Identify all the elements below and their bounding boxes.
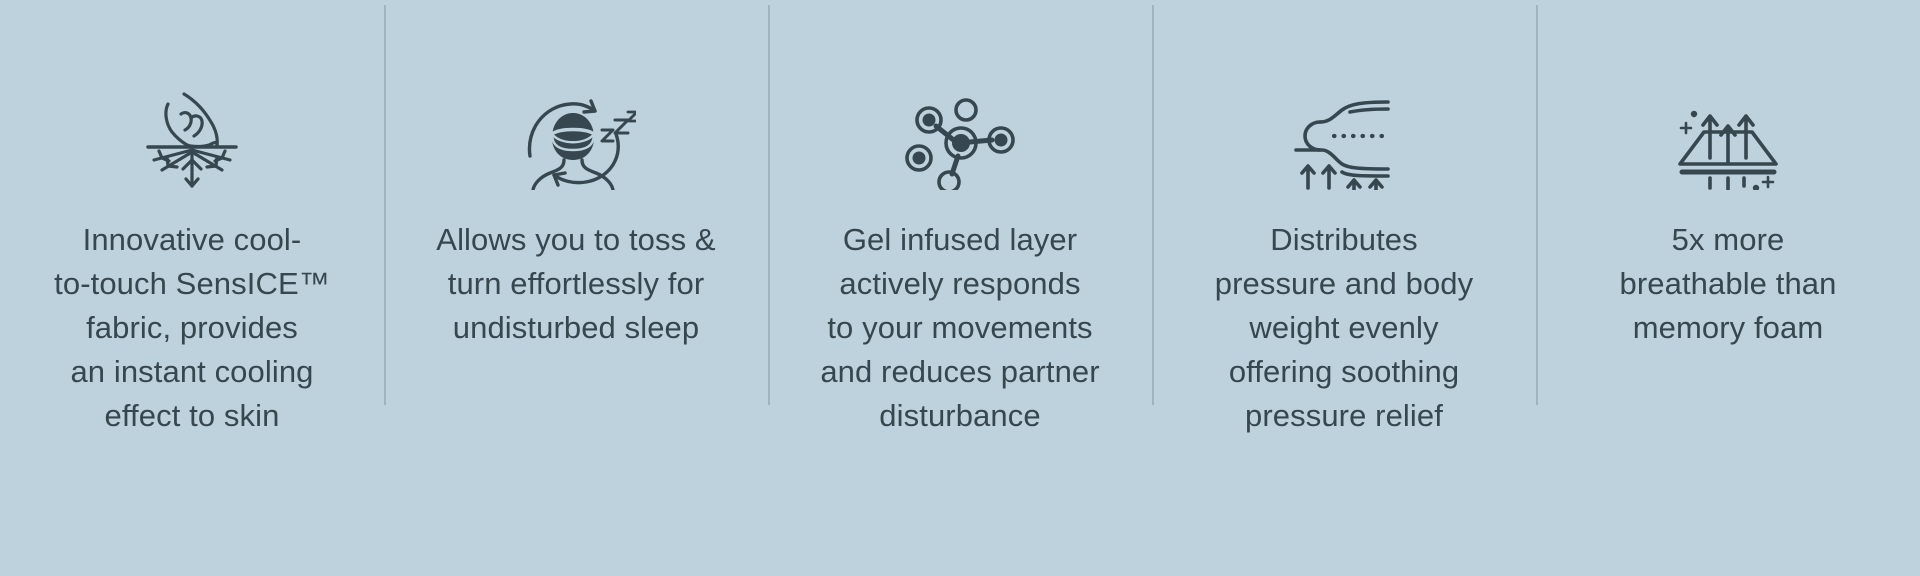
gel-molecule-icon <box>900 90 1020 190</box>
feature-text: Innovative cool- to-touch SensICE™ fabri… <box>54 218 330 438</box>
feature-text: 5x more breathable than memory foam <box>1620 218 1837 350</box>
feature-item-cooling-fabric: Innovative cool- to-touch SensICE™ fabri… <box>0 0 384 576</box>
body-pressure-distribution-icon <box>1284 90 1404 190</box>
feature-item-pressure-relief: Distributes pressure and body weight eve… <box>1152 0 1536 576</box>
breathable-airflow-icon <box>1668 90 1788 190</box>
feature-highlights-bar: Innovative cool- to-touch SensICE™ fabri… <box>0 0 1920 576</box>
feature-text: Allows you to toss & turn effortlessly f… <box>436 218 715 350</box>
feature-item-gel-layer: Gel infused layer actively responds to y… <box>768 0 1152 576</box>
feature-item-breathability: 5x more breathable than memory foam <box>1536 0 1920 576</box>
feature-text: Gel infused layer actively responds to y… <box>820 218 1099 438</box>
sleeping-person-rotating-icon <box>516 90 636 190</box>
feature-text: Distributes pressure and body weight eve… <box>1215 218 1473 438</box>
hand-touching-snowflake-icon <box>132 90 252 190</box>
feature-item-toss-turn: Allows you to toss & turn effortlessly f… <box>384 0 768 576</box>
